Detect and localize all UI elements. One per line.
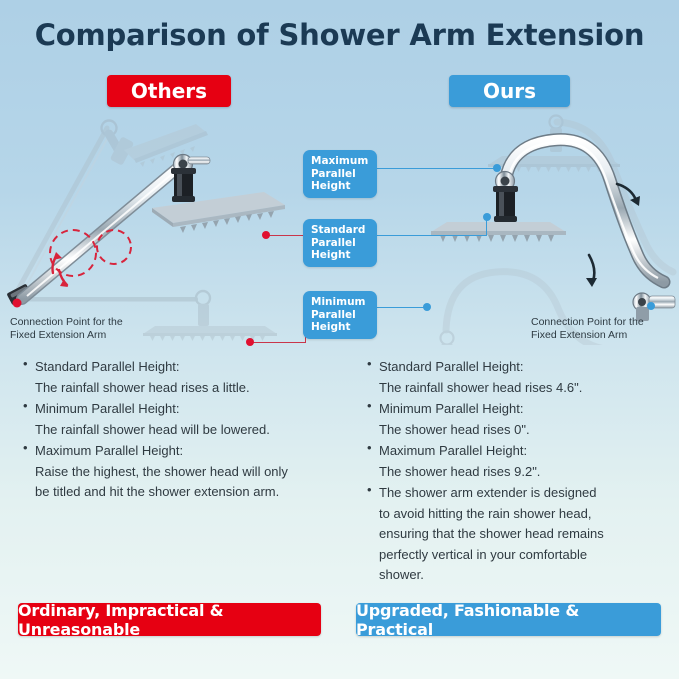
- connector-dot-minimum-left: [246, 338, 254, 346]
- list-item: Minimum Parallel Height: The shower head…: [366, 399, 676, 440]
- connector-line-minimum-left: [250, 342, 306, 343]
- arrow-head-down: [60, 279, 68, 287]
- connector-dot-maximum: [493, 164, 501, 172]
- bullet-list-others-items: Standard Parallel Height: The rainfall s…: [22, 357, 352, 503]
- badge-others: Others: [107, 75, 231, 107]
- bullet-list-ours-items: Standard Parallel Height: The rainfall s…: [366, 357, 676, 586]
- callout-standard-parallel-height: Standard Parallel Height: [303, 219, 377, 267]
- bullet-body: The rainfall shower head rises a little.: [35, 378, 352, 399]
- connector-line-standard-right: [377, 235, 487, 236]
- bullet-body: The rainfall shower head rises 4.6".: [379, 378, 676, 399]
- list-item: Minimum Parallel Height: The rainfall sh…: [22, 399, 352, 440]
- footer-banner-ours: Upgraded, Fashionable & Practical: [356, 603, 661, 636]
- bullet-body: The shower head rises 9.2".: [379, 462, 676, 483]
- bullet-head: Standard Parallel Height:: [379, 357, 676, 378]
- bullet-body: The shower head rises 0".: [379, 420, 676, 441]
- connection-dot-left: [13, 299, 22, 308]
- bullet-head: Minimum Parallel Height:: [35, 399, 352, 420]
- connector-dot-minimum-right: [423, 303, 431, 311]
- bullet-head: Minimum Parallel Height:: [379, 399, 676, 420]
- rain-shower-head-left: [152, 192, 285, 233]
- caption-connection-point-left: Connection Point for the Fixed Extension…: [10, 316, 123, 342]
- connector-dot-standard-right: [483, 213, 491, 221]
- list-item: Standard Parallel Height: The rainfall s…: [366, 357, 676, 398]
- bullet-head: Standard Parallel Height:: [35, 357, 352, 378]
- connector-line-standard-left: [267, 235, 303, 236]
- callout-minimum-parallel-height: Minimum Parallel Height: [303, 291, 377, 339]
- bullet-body: Raise the highest, the shower head will …: [35, 462, 352, 503]
- list-item: Maximum Parallel Height: The shower head…: [366, 441, 676, 482]
- connector-line-maximum: [377, 168, 497, 169]
- bullet-head: Maximum Parallel Height:: [35, 441, 352, 462]
- bullet-list-others: Standard Parallel Height: The rainfall s…: [22, 357, 352, 504]
- bullet-head: Maximum Parallel Height:: [379, 441, 676, 462]
- left-illustration-group: [6, 121, 285, 342]
- connector-dot-standard-left: [262, 231, 270, 239]
- list-item: Maximum Parallel Height: Raise the highe…: [22, 441, 352, 503]
- shower-head-neck-right: [493, 186, 518, 222]
- collision-marker-lower: [97, 230, 131, 264]
- page-title: Comparison of Shower Arm Extension: [0, 18, 679, 52]
- rain-shower-head-right: [431, 222, 566, 242]
- list-item: Standard Parallel Height: The rainfall s…: [22, 357, 352, 398]
- callout-maximum-parallel-height: Maximum Parallel Height: [303, 150, 377, 198]
- footer-banner-others: Ordinary, Impractical & Unreasonable: [18, 603, 321, 636]
- caption-connection-point-right: Connection Point for the Fixed Extension…: [531, 316, 644, 342]
- badge-ours: Ours: [449, 75, 570, 107]
- shower-head-neck-left: [171, 168, 196, 202]
- connector-line-minimum-right: [377, 307, 427, 308]
- motion-arrow-head-2: [586, 278, 597, 287]
- bullet-list-ours: Standard Parallel Height: The rainfall s…: [366, 357, 676, 587]
- bullet-body: The rainfall shower head will be lowered…: [35, 420, 352, 441]
- bullet-head: The shower arm extender is designed to a…: [379, 483, 676, 586]
- list-item: The shower arm extender is designed to a…: [366, 483, 676, 586]
